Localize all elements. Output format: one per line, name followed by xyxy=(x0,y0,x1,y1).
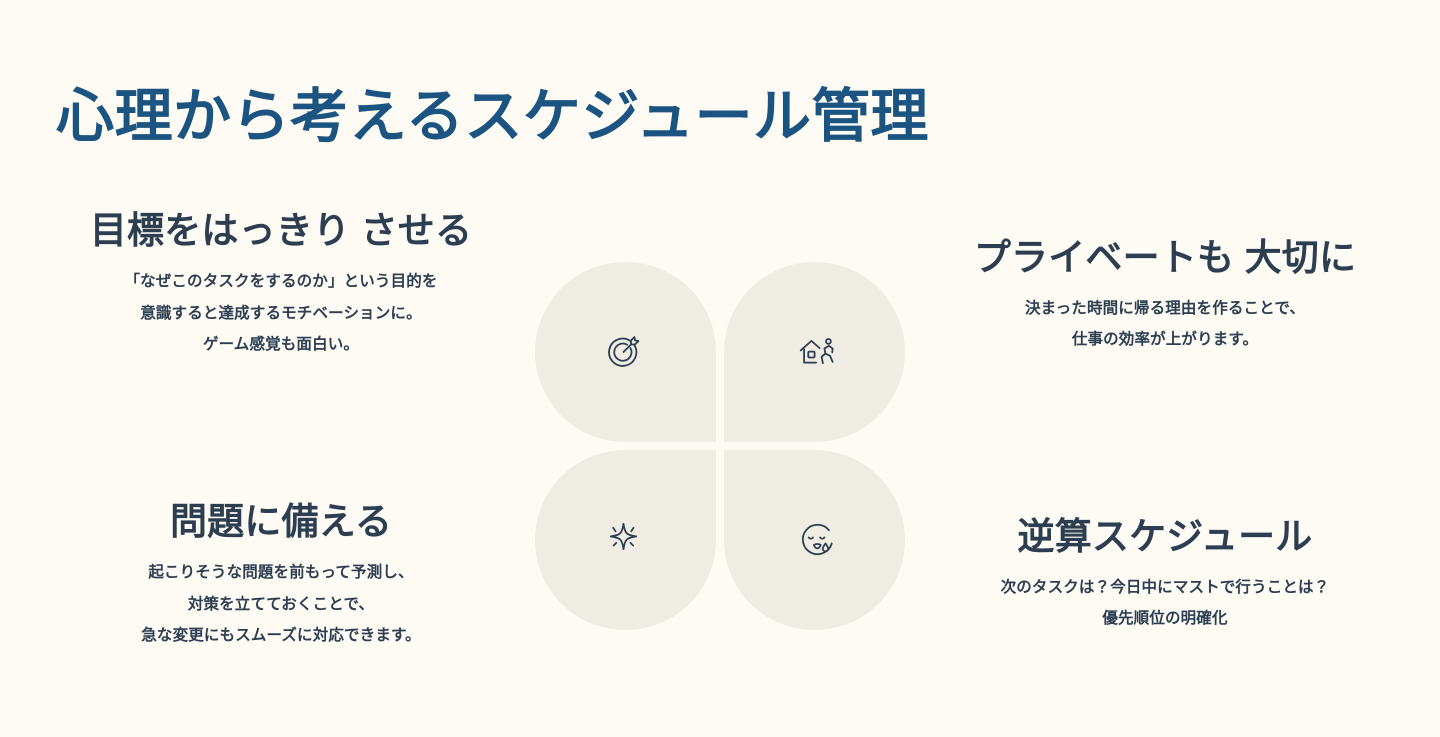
feature-body-reverse-line1: 次のタスクは？今日中にマストで行うことは？ xyxy=(930,572,1400,603)
feature-body-private: 決まった時間に帰る理由を作ることで、 仕事の効率が上がります。 xyxy=(930,293,1400,355)
petal-top-right xyxy=(724,262,905,442)
feature-body-problem: 起こりそうな問題を前もって予測し、 対策を立てておくことで、 急な変更にもスムー… xyxy=(46,557,516,652)
feature-body-private-line2: 仕事の効率が上がります。 xyxy=(930,324,1400,355)
feature-body-problem-line1: 起こりそうな問題を前もって予測し、 xyxy=(46,557,516,589)
sparkle-star-icon xyxy=(602,519,644,561)
feature-body-reverse: 次のタスクは？今日中にマストで行うことは？ 優先順位の明確化 xyxy=(930,572,1400,634)
feature-body-goal-line2: 意識すると達成するモチベーションに。 xyxy=(46,298,516,330)
feature-heading-problem-line1: 問題に備える xyxy=(170,501,392,542)
feature-body-problem-line3: 急な変更にもスムーズに対応できます。 xyxy=(46,620,516,652)
feature-block-reverse: 逆算スケジュール 次のタスクは？今日中にマストで行うことは？ 優先順位の明確化 xyxy=(930,512,1400,634)
page-title: 心理から考えるスケジュール管理 xyxy=(56,84,929,151)
feature-heading-private-line1: プライベートも xyxy=(974,237,1234,278)
sleepy-face-icon xyxy=(796,519,838,561)
target-arrow-icon xyxy=(602,331,644,373)
slide-canvas: 心理から考えるスケジュール管理 目標をはっきり させる 「なぜこのタスクをするの… xyxy=(0,0,1440,737)
feature-heading-private: プライベートも 大切に xyxy=(930,233,1400,283)
petal-top-left xyxy=(535,262,716,442)
feature-heading-private-line2: 大切に xyxy=(1245,237,1357,278)
feature-heading-goal-line1: 目標をはっきり xyxy=(90,210,350,251)
feature-heading-problem: 問題に備える xyxy=(46,497,516,547)
feature-body-problem-line2: 対策を立てておくことで、 xyxy=(46,589,516,621)
feature-body-private-line1: 決まった時間に帰る理由を作ることで、 xyxy=(930,293,1400,324)
feature-block-private: プライベートも 大切に 決まった時間に帰る理由を作ることで、 仕事の効率が上がり… xyxy=(930,233,1400,355)
feature-heading-reverse: 逆算スケジュール xyxy=(930,512,1400,562)
petal-bottom-right xyxy=(724,450,905,630)
feature-body-goal-line1: 「なぜこのタスクをするのか」という目的を xyxy=(46,266,516,298)
feature-body-goal-line3: ゲーム感覚も面白い。 xyxy=(46,329,516,361)
feature-body-reverse-line2: 優先順位の明確化 xyxy=(930,603,1400,634)
feature-heading-goal-line2: させる xyxy=(361,210,473,251)
petal-bottom-left xyxy=(535,450,716,630)
clover-graphic xyxy=(535,262,905,630)
feature-heading-reverse-line1: 逆算スケジュール xyxy=(1018,516,1313,557)
feature-body-goal: 「なぜこのタスクをするのか」という目的を 意識すると達成するモチベーションに。 … xyxy=(46,266,516,361)
feature-heading-goal: 目標をはっきり させる xyxy=(46,206,516,256)
house-person-icon xyxy=(796,331,838,373)
feature-block-problem: 問題に備える 起こりそうな問題を前もって予測し、 対策を立てておくことで、 急な… xyxy=(46,497,516,652)
feature-block-goal: 目標をはっきり させる 「なぜこのタスクをするのか」という目的を 意識すると達成… xyxy=(46,206,516,361)
